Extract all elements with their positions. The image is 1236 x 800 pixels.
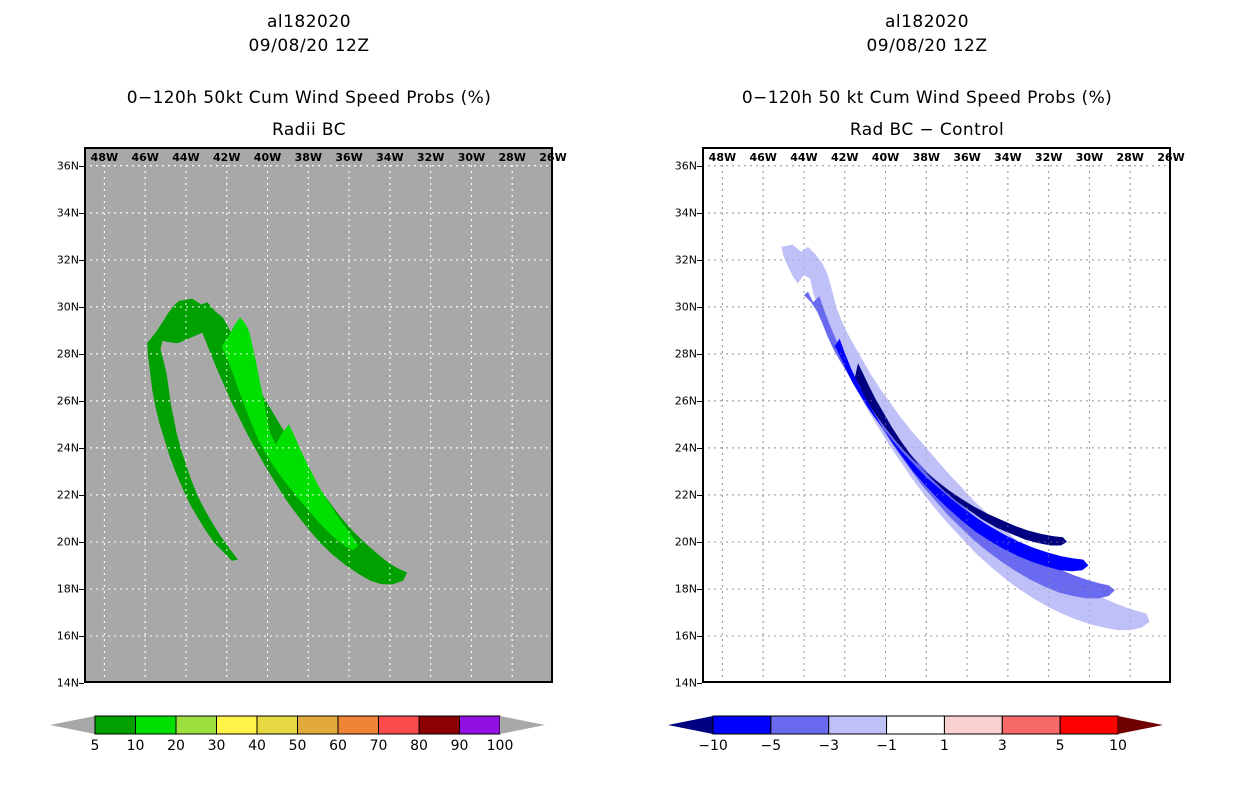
colorbar-cell bbox=[379, 716, 420, 734]
colorbar-tick-label: −5 bbox=[761, 738, 782, 754]
right-plot-area: 14N16N18N20N22N24N26N28N30N32N34N36N 48W… bbox=[702, 147, 1171, 683]
y-tick-mark bbox=[697, 354, 702, 355]
y-tick-label: 30N bbox=[675, 300, 697, 313]
colorbar-tick-label: 20 bbox=[167, 738, 185, 754]
y-tick-label: 18N bbox=[675, 582, 697, 595]
x-tick-label: 36W bbox=[335, 151, 362, 164]
y-tick-mark bbox=[697, 307, 702, 308]
left-datetime: 09/08/20 12Z bbox=[0, 36, 618, 56]
x-tick-label: 28W bbox=[1116, 151, 1143, 164]
colorbar-cell bbox=[95, 716, 136, 734]
x-tick-label: 48W bbox=[709, 151, 736, 164]
colorbar-over-arrow bbox=[1118, 716, 1163, 734]
x-tick-label: 44W bbox=[790, 151, 817, 164]
y-tick-label: 28N bbox=[57, 347, 79, 360]
colorbar-cell bbox=[217, 716, 258, 734]
colorbar-tick-label: 3 bbox=[998, 738, 1007, 754]
y-tick-mark bbox=[697, 589, 702, 590]
colorbar-cell bbox=[176, 716, 217, 734]
colorbar-tick-label: 5 bbox=[91, 738, 100, 754]
left-storm-id: al182020 bbox=[0, 12, 618, 32]
y-tick-mark bbox=[697, 636, 702, 637]
y-tick-mark bbox=[79, 589, 84, 590]
y-tick-mark bbox=[697, 448, 702, 449]
colorbar-tick-label: 90 bbox=[451, 738, 469, 754]
left-title-sub: Radii BC bbox=[0, 120, 618, 140]
y-tick-label: 34N bbox=[675, 206, 697, 219]
x-tick-label: 48W bbox=[91, 151, 118, 164]
x-tick-label: 46W bbox=[131, 151, 158, 164]
y-tick-mark bbox=[79, 166, 84, 167]
y-tick-mark bbox=[79, 542, 84, 543]
x-tick-label: 38W bbox=[295, 151, 322, 164]
figure-root: al182020 09/08/20 12Z 0−120h 50kt Cum Wi… bbox=[0, 0, 1236, 800]
y-tick-label: 20N bbox=[675, 535, 697, 548]
right-title-main: 0−120h 50 kt Cum Wind Speed Probs (%) bbox=[618, 88, 1236, 108]
colorbar-cell bbox=[338, 716, 379, 734]
colorbar-tick-label: 10 bbox=[1109, 738, 1127, 754]
left-plot-frame bbox=[84, 147, 553, 683]
right-colorbar-swatches bbox=[618, 712, 1236, 738]
colorbar-cell bbox=[257, 716, 298, 734]
y-tick-mark bbox=[697, 260, 702, 261]
colorbar-tick-label: 5 bbox=[1056, 738, 1065, 754]
colorbar-tick-label: 80 bbox=[410, 738, 428, 754]
left-colorbar-swatches bbox=[0, 712, 618, 738]
y-tick-label: 16N bbox=[57, 629, 79, 642]
x-tick-label: 38W bbox=[913, 151, 940, 164]
x-tick-label: 26W bbox=[539, 151, 566, 164]
y-tick-mark bbox=[697, 542, 702, 543]
right-colorbar: −10−5−3−113510 bbox=[618, 712, 1236, 772]
y-tick-mark bbox=[79, 448, 84, 449]
y-tick-label: 26N bbox=[57, 394, 79, 407]
colorbar-tick-label: 1 bbox=[940, 738, 949, 754]
colorbar-tick-label: 70 bbox=[370, 738, 388, 754]
left-plot-area: 14N16N18N20N22N24N26N28N30N32N34N36N 48W… bbox=[84, 147, 553, 683]
y-tick-mark bbox=[697, 213, 702, 214]
colorbar-cell bbox=[1002, 716, 1060, 734]
colorbar-tick-label: −1 bbox=[876, 738, 897, 754]
colorbar-cell bbox=[460, 716, 501, 734]
colorbar-cell bbox=[771, 716, 829, 734]
right-datetime: 09/08/20 12Z bbox=[618, 36, 1236, 56]
x-tick-label: 34W bbox=[376, 151, 403, 164]
x-tick-label: 28W bbox=[498, 151, 525, 164]
y-tick-label: 20N bbox=[57, 535, 79, 548]
left-colorbar: 5102030405060708090100 bbox=[0, 712, 618, 772]
y-tick-label: 24N bbox=[675, 441, 697, 454]
y-tick-mark bbox=[79, 260, 84, 261]
y-tick-label: 22N bbox=[675, 488, 697, 501]
x-tick-label: 42W bbox=[831, 151, 858, 164]
y-tick-mark bbox=[697, 495, 702, 496]
y-tick-label: 22N bbox=[57, 488, 79, 501]
y-tick-label: 18N bbox=[57, 582, 79, 595]
colorbar-tick-label: −10 bbox=[698, 738, 728, 754]
left-title-main: 0−120h 50kt Cum Wind Speed Probs (%) bbox=[0, 88, 618, 108]
y-tick-mark bbox=[79, 213, 84, 214]
y-tick-label: 26N bbox=[675, 394, 697, 407]
y-tick-label: 34N bbox=[57, 206, 79, 219]
x-tick-label: 34W bbox=[994, 151, 1021, 164]
colorbar-cell bbox=[136, 716, 177, 734]
panel-left: al182020 09/08/20 12Z 0−120h 50kt Cum Wi… bbox=[0, 0, 618, 800]
right-storm-id: al182020 bbox=[618, 12, 1236, 32]
colorbar-tick-label: 30 bbox=[208, 738, 226, 754]
y-tick-label: 16N bbox=[675, 629, 697, 642]
colorbar-cell bbox=[713, 716, 771, 734]
colorbar-tick-label: 10 bbox=[127, 738, 145, 754]
y-tick-label: 36N bbox=[675, 159, 697, 172]
y-tick-label: 30N bbox=[57, 300, 79, 313]
x-tick-label: 40W bbox=[872, 151, 899, 164]
y-tick-label: 14N bbox=[57, 677, 79, 690]
colorbar-under-arrow bbox=[668, 716, 713, 734]
colorbar-cell bbox=[419, 716, 460, 734]
left-colorbar-labels: 5102030405060708090100 bbox=[0, 738, 618, 762]
x-tick-label: 30W bbox=[1076, 151, 1103, 164]
y-tick-mark bbox=[697, 166, 702, 167]
colorbar-tick-label: 50 bbox=[289, 738, 307, 754]
colorbar-tick-label: 60 bbox=[329, 738, 347, 754]
colorbar-cell bbox=[887, 716, 945, 734]
y-tick-label: 28N bbox=[675, 347, 697, 360]
y-tick-mark bbox=[79, 636, 84, 637]
right-colorbar-labels: −10−5−3−113510 bbox=[618, 738, 1236, 762]
x-tick-label: 36W bbox=[953, 151, 980, 164]
y-tick-mark bbox=[79, 307, 84, 308]
panel-right: al182020 09/08/20 12Z 0−120h 50 kt Cum W… bbox=[618, 0, 1236, 800]
x-tick-label: 44W bbox=[172, 151, 199, 164]
right-plot-frame bbox=[702, 147, 1171, 683]
colorbar-cell bbox=[829, 716, 887, 734]
y-tick-mark bbox=[79, 683, 84, 684]
right-title-sub: Rad BC − Control bbox=[618, 120, 1236, 140]
x-tick-label: 40W bbox=[254, 151, 281, 164]
colorbar-cell bbox=[298, 716, 339, 734]
x-tick-label: 32W bbox=[417, 151, 444, 164]
y-tick-label: 24N bbox=[57, 441, 79, 454]
y-tick-label: 32N bbox=[675, 253, 697, 266]
colorbar-tick-label: 40 bbox=[248, 738, 266, 754]
colorbar-tick-label: 100 bbox=[487, 738, 514, 754]
y-tick-mark bbox=[79, 401, 84, 402]
x-tick-label: 26W bbox=[1157, 151, 1184, 164]
colorbar-cell bbox=[944, 716, 1002, 734]
x-tick-label: 42W bbox=[213, 151, 240, 164]
x-tick-label: 30W bbox=[458, 151, 485, 164]
y-tick-label: 32N bbox=[57, 253, 79, 266]
y-tick-mark bbox=[79, 354, 84, 355]
colorbar-cell bbox=[1060, 716, 1118, 734]
colorbar-under-arrow bbox=[50, 716, 95, 734]
x-tick-label: 32W bbox=[1035, 151, 1062, 164]
x-tick-label: 46W bbox=[749, 151, 776, 164]
y-tick-mark bbox=[697, 683, 702, 684]
y-tick-mark bbox=[697, 401, 702, 402]
y-tick-label: 36N bbox=[57, 159, 79, 172]
y-tick-mark bbox=[79, 495, 84, 496]
y-tick-label: 14N bbox=[675, 677, 697, 690]
colorbar-tick-label: −3 bbox=[818, 738, 839, 754]
colorbar-over-arrow bbox=[500, 716, 545, 734]
